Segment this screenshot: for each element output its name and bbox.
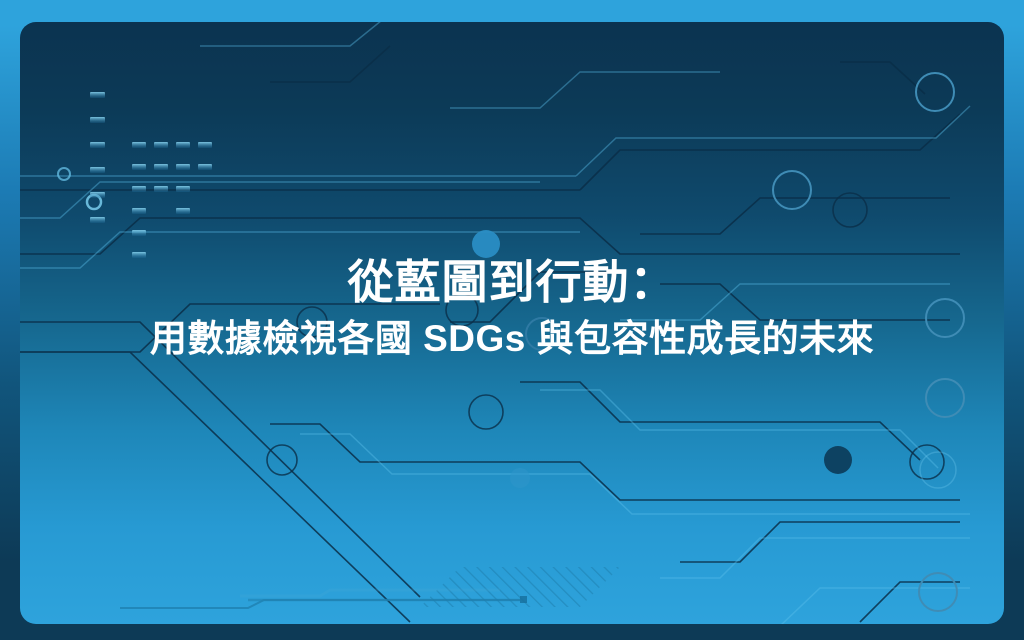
circuit-node-dot: [824, 446, 852, 474]
slide-panel: 從藍圖到行動： 用數據檢視各國 SDGs 與包容性成長的未來: [20, 22, 1004, 624]
title-block: 從藍圖到行動： 用數據檢視各國 SDGs 與包容性成長的未來: [20, 254, 1004, 362]
slide-subtitle: 用數據檢視各國 SDGs 與包容性成長的未來: [20, 316, 1004, 362]
slide-canvas: 從藍圖到行動： 用數據檢視各國 SDGs 與包容性成長的未來: [0, 0, 1024, 640]
slide-title: 從藍圖到行動：: [20, 254, 1004, 310]
